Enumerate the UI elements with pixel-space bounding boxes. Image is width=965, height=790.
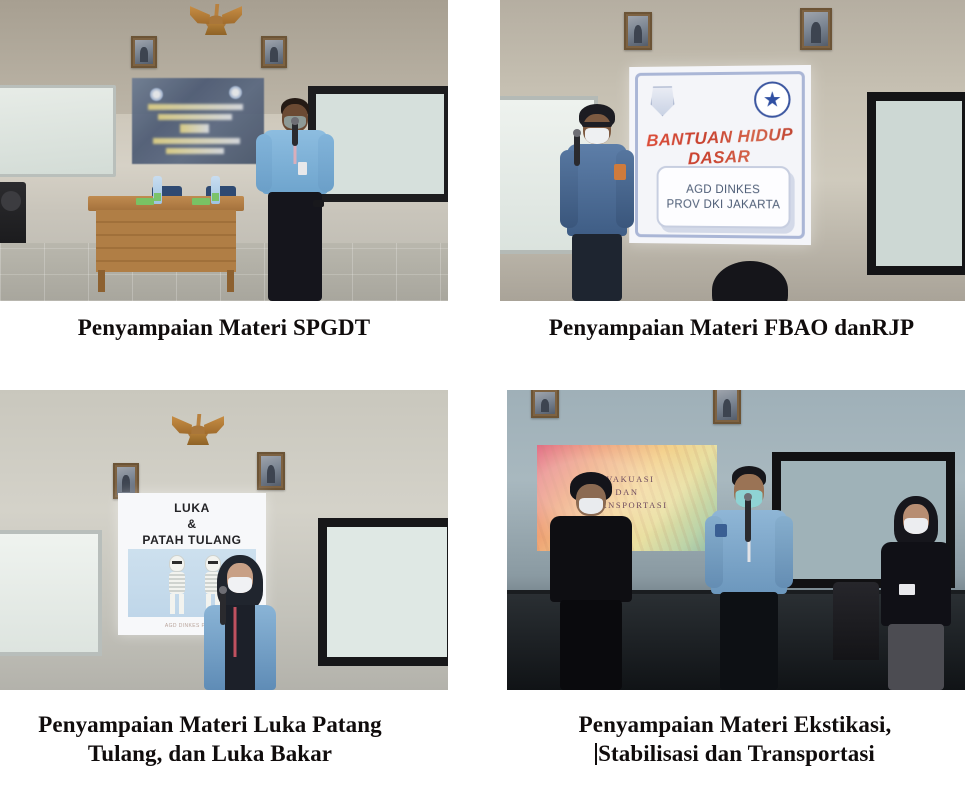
- microphone: [292, 122, 298, 146]
- slide-text-line: [180, 124, 209, 133]
- microphone: [220, 591, 226, 625]
- dark-top: [881, 542, 951, 626]
- pa-speaker: [0, 182, 26, 250]
- garuda-tail: [187, 434, 209, 445]
- presenter-person-center: [703, 466, 795, 690]
- audience-head-silhouette: [712, 261, 788, 301]
- photo-bantuan-hidup-dasar: BANTUAN HIDUP DASAR AGD DINKES PROV DKI …: [500, 0, 965, 301]
- photo-luka-patah-tulang: LUKA & PATAH TULANG AGD DINKES PROVI: [0, 390, 448, 690]
- slide-box-line-1: AGD DINKES: [686, 183, 760, 195]
- classroom-scene: BANTUAN HIDUP DASAR AGD DINKES PROV DKI …: [500, 0, 965, 301]
- slide-subtitle-box: AGD DINKES PROV DKI JAKARTA: [657, 166, 791, 229]
- chair: [833, 582, 879, 660]
- shoulder-patch: [715, 524, 727, 537]
- slide-text-line: [166, 148, 224, 154]
- presenter-person: [252, 96, 338, 301]
- caption-line-1: Penyampaian Materi Ekstikasi,: [505, 710, 965, 739]
- desk-item: [136, 198, 154, 205]
- arm-right: [775, 516, 793, 588]
- presenter-person-hijab: [196, 555, 284, 690]
- figure-2-caption: Penyampaian Materi FBAO danRJP: [498, 313, 965, 342]
- portrait-frame-left: [531, 390, 559, 418]
- shoulder-patch: [614, 164, 626, 180]
- slide-text-line: [148, 104, 243, 110]
- jacket-front-panel: [225, 605, 255, 690]
- slide-box-line-2: PROV DKI JAKARTA: [667, 198, 781, 211]
- id-badge: [298, 162, 307, 175]
- black-tshirt: [550, 516, 632, 602]
- trousers: [888, 624, 944, 690]
- projected-slide-bhd: BANTUAN HIDUP DASAR AGD DINKES PROV DKI …: [629, 65, 811, 245]
- arm-left: [256, 134, 272, 192]
- portrait-frame-right: [713, 390, 741, 424]
- wristwatch: [313, 200, 324, 207]
- presenter-person: [558, 104, 636, 301]
- slide-text-line: [158, 114, 232, 120]
- classroom-scene-dark: EVAKUASI DAN TRANSPORTASI: [507, 390, 965, 690]
- projection-screen-right: [867, 92, 965, 275]
- microphone: [745, 498, 751, 542]
- microphone: [574, 134, 580, 166]
- name-tag: [899, 584, 915, 595]
- garuda-tail: [205, 24, 227, 35]
- trousers: [720, 592, 778, 690]
- skeleton-figure: [164, 555, 190, 615]
- wooden-desk: [88, 196, 244, 292]
- slide-title: BANTUAN HIDUP DASAR: [635, 124, 805, 172]
- photo-spgdt-presentation: [0, 0, 448, 301]
- trousers: [268, 192, 322, 301]
- desk-item: [192, 198, 210, 205]
- portrait-frame-right: [800, 8, 832, 50]
- portrait-frame-left: [131, 36, 157, 68]
- trousers: [560, 600, 622, 690]
- participant-person-left: [543, 472, 639, 690]
- projection-screen-right: [318, 518, 448, 666]
- whiteboard: [0, 85, 116, 177]
- water-bottle: [211, 176, 220, 204]
- face-mask: [228, 577, 252, 593]
- figure-3-caption: Penyampaian Materi Luka Patang Tulang, d…: [0, 710, 420, 769]
- portrait-frame-right: [257, 452, 285, 490]
- face-mask: [585, 128, 609, 144]
- face-mask: [579, 498, 603, 514]
- arm-right: [318, 134, 334, 192]
- slide-logo-left-icon: [150, 88, 163, 101]
- text-caret: [595, 743, 597, 765]
- face-mask: [904, 518, 928, 534]
- slide-title: LUKA & PATAH TULANG: [118, 500, 266, 549]
- portrait-frame-right: [261, 36, 287, 68]
- caption-line-2: Stabilisasi dan Transportasi: [505, 739, 965, 768]
- whiteboard: [0, 530, 102, 656]
- water-bottle: [153, 176, 162, 204]
- figure-1-caption: Penyampaian Materi SPGDT: [0, 313, 448, 342]
- classroom-scene: LUKA & PATAH TULANG AGD DINKES PROVI: [0, 390, 448, 690]
- slide-text-line: [153, 138, 240, 144]
- figure-4-caption: Penyampaian Materi Ekstikasi,Stabilisasi…: [505, 710, 965, 769]
- garuda-emblem-icon: [172, 414, 224, 444]
- photo-evakuasi-transportasi: EVAKUASI DAN TRANSPORTASI: [507, 390, 965, 690]
- portrait-frame-left: [624, 12, 652, 50]
- projected-slide: [132, 78, 264, 164]
- star-of-life-icon: [754, 81, 790, 118]
- lanyard: [233, 607, 236, 657]
- garuda-emblem-icon: [190, 4, 242, 34]
- participant-person-right: [875, 496, 957, 690]
- eyeglasses: [582, 122, 612, 127]
- figure-grid: Penyampaian Materi SPGDT BANTUAN HIDUP D…: [0, 0, 965, 790]
- slide-logo-right-icon: [229, 86, 242, 99]
- trousers: [572, 234, 622, 301]
- classroom-scene: [0, 0, 448, 301]
- arm-right: [616, 150, 634, 228]
